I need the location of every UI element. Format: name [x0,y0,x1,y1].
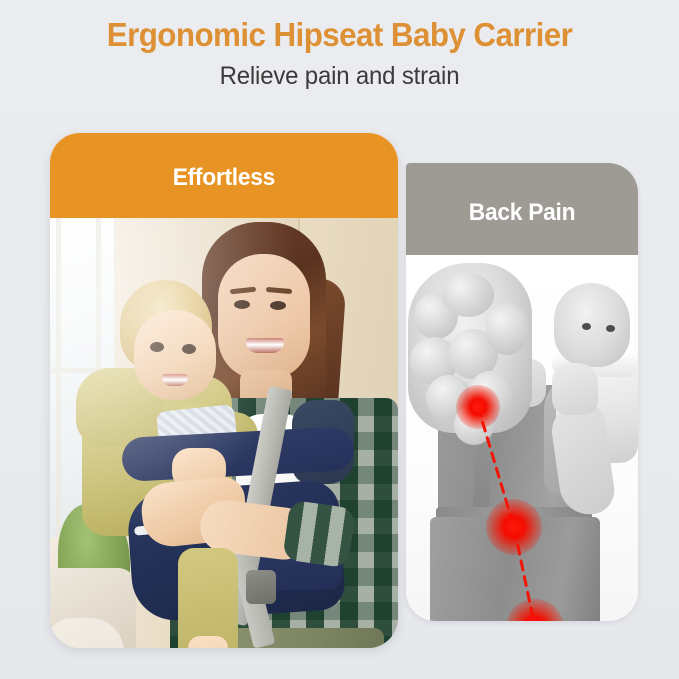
effortless-photo [50,218,398,648]
mother-face [218,254,310,380]
baby-leg [178,548,238,648]
mother-smile [246,338,284,353]
card-effortless: Effortless [50,133,398,648]
pain-path-line [406,255,638,621]
back-pain-photo [406,255,638,621]
mother-eye-left [234,300,250,309]
comparison-cards: Back Pain [0,0,679,679]
baby-eye-left [150,342,164,352]
baby-smile [162,374,188,386]
window-mullion [56,218,61,538]
pain-point-mid-back [486,499,542,555]
product-infographic-page: Ergonomic Hipseat Baby Carrier Relieve p… [0,0,679,679]
baby-shin [188,636,228,648]
card-back-pain: Back Pain [406,163,638,621]
pain-indicator-layer [406,255,638,621]
back-pain-band: Back Pain [406,163,638,255]
effortless-band: Effortless [50,133,398,218]
mother-sleeve-cuff [282,500,356,569]
carrier-buckle [246,570,276,604]
baby-face [134,310,216,400]
effortless-label: Effortless [173,160,275,192]
mother-eye-right [270,301,286,310]
pain-point-neck [456,385,500,429]
baby-eye-right [182,344,196,354]
color-scene [50,218,398,648]
back-pain-label: Back Pain [469,191,575,227]
